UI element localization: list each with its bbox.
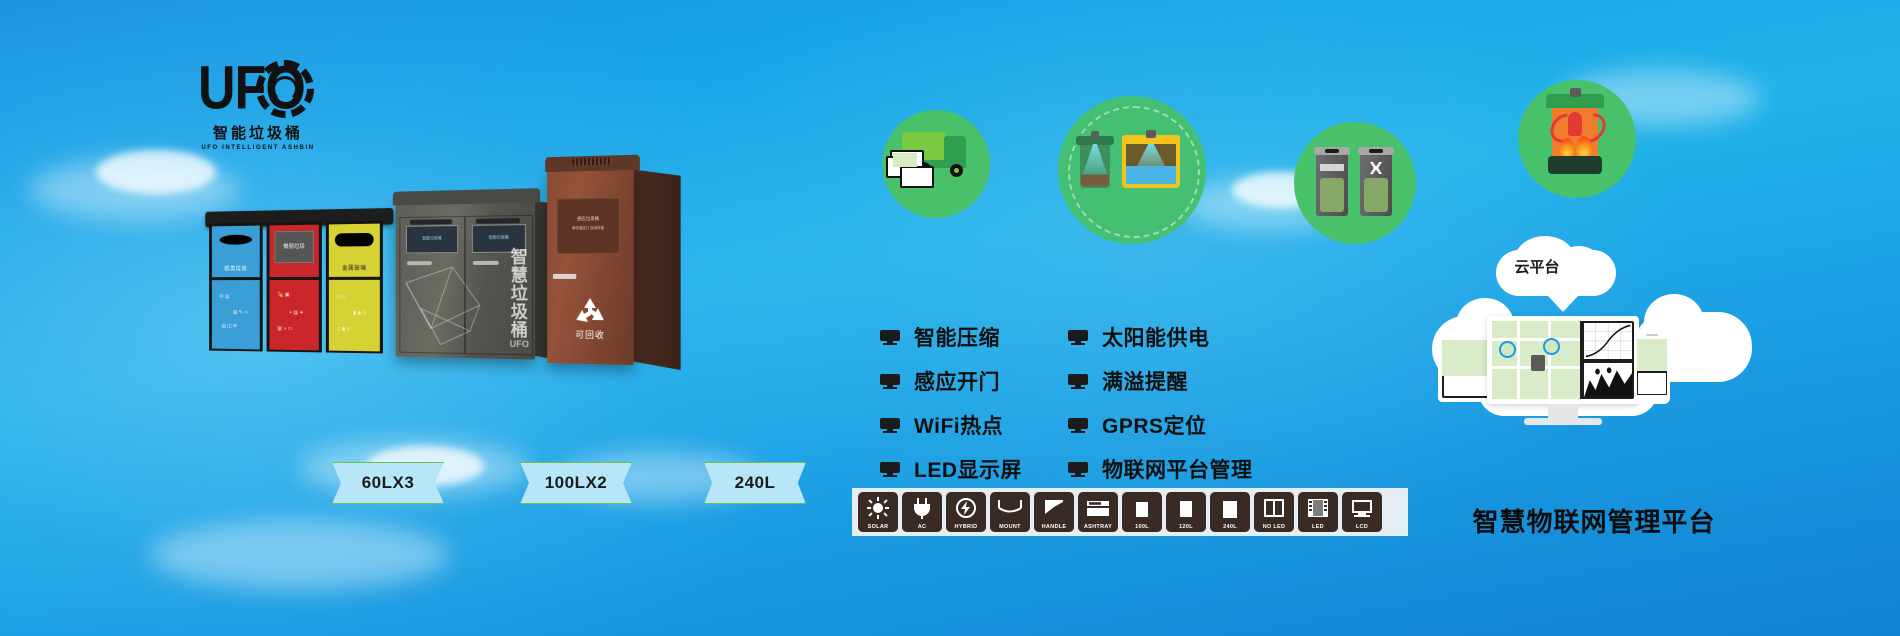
plug-icon (902, 492, 942, 524)
compartment-label: 金属玻璃 (329, 263, 380, 271)
spec-icon-label: 240L (1210, 524, 1250, 532)
monitor-icon (880, 330, 900, 345)
feature-item: 物联网平台管理 (1068, 454, 1253, 484)
bin-240l-icon (1210, 492, 1250, 524)
logo-chinese-name: 智能垃圾桶 (198, 122, 318, 143)
ultrasonic-beam (1083, 144, 1107, 174)
feature-item: LED显示屏 (880, 454, 1022, 484)
monitor-area-chart (1584, 363, 1632, 397)
compartment-top-panel: 纸类垃圾 (212, 226, 260, 278)
phone-screen (1637, 339, 1667, 395)
compartment-screen: 餐厨垃圾 (274, 231, 313, 263)
feature-label: LED显示屏 (914, 454, 1022, 484)
feature-circle-waste-compaction (1294, 122, 1416, 244)
spec-icon-label: LED (1298, 524, 1338, 532)
feature-label: 太阳能供电 (1102, 322, 1210, 352)
map-road (1548, 321, 1551, 399)
waste-bag-compacted (1364, 178, 1388, 212)
feature-item: WiFi热点 (880, 410, 1022, 440)
tablet-map (1442, 340, 1490, 376)
monitor-icon (880, 374, 900, 389)
monitor-icon (1068, 374, 1088, 389)
flame-icon (1560, 138, 1574, 158)
feature-item: 智能压缩 (880, 322, 1022, 352)
spec-icon-label: HANDLE (1034, 524, 1074, 532)
bin-slot (1369, 149, 1383, 153)
spec-icon-ashtray[interactable]: ASHTRAY (1078, 492, 1118, 532)
spec-icon-240l[interactable]: 240L (1210, 492, 1250, 532)
cloud-platform-label: 云平台 (1494, 256, 1580, 277)
spec-icon-hybrid[interactable]: HYBRID (946, 492, 986, 532)
bin-vent (410, 219, 452, 225)
brand-logo: UFO 智能垃圾桶 UFO INTELLIGENT ASHBIN (198, 58, 318, 150)
spec-icon-label: 120L (1166, 524, 1206, 532)
cloud-decor (150, 520, 450, 590)
spec-icon-120l[interactable]: 120L (1166, 492, 1206, 532)
bin-side-face (632, 169, 681, 370)
sensor-node (1146, 130, 1156, 138)
feature-label: WiFi热点 (914, 410, 1003, 440)
device-desktop-monitor (1487, 316, 1639, 404)
tablet-bar-chart (1465, 376, 1488, 396)
bin-compartment-kitchen: 餐厨垃圾 🍖 ▣ ◓ ▥ ✦ ▧ ◑ ▭ (267, 222, 322, 353)
bin-compartment-paper: 纸类垃圾 ✉ ▤ ▨ ✎ ▭ ▤ ◫ ✉ (209, 223, 263, 352)
bin-info-panel: 感应垃圾桶 伸手感应门 自动开盖 (557, 197, 620, 254)
device-tablet (1438, 336, 1494, 402)
bin-recycle-label: 可回收 (547, 327, 634, 341)
compaction-bin-before (1316, 152, 1348, 216)
spec-icon-handle[interactable]: HANDLE (1034, 492, 1074, 532)
feature-item: GPRS定位 (1068, 410, 1253, 440)
monitor-screen (1492, 321, 1634, 399)
waste-slot (219, 235, 252, 245)
capacity-ribbon-240l: 240L (704, 462, 806, 504)
bin-handle-right[interactable] (473, 261, 499, 265)
bin-door-left: 智能垃圾桶 (399, 216, 465, 354)
monitor-icon (880, 418, 900, 433)
cloud-decor (96, 150, 216, 194)
map-road (1517, 321, 1520, 399)
feature-item: 满溢提醒 (1068, 366, 1253, 396)
logo-english-name: UFO INTELLIGENT ASHBIN (198, 145, 318, 151)
compartment-label: 餐厨垃圾 (275, 242, 313, 250)
phone-speaker (1646, 334, 1658, 336)
compactor-plate (1320, 164, 1344, 171)
feature-column-right: 太阳能供电 满溢提醒 GPRS定位 物联网平台管理 (1068, 322, 1253, 484)
compaction-bin-after (1360, 152, 1392, 216)
monitor-map-panel (1492, 321, 1580, 399)
product-three-compartment-bin: 纸类垃圾 ✉ ▤ ▨ ✎ ▭ ▤ ◫ ✉ 餐厨垃圾 🍖 ▣ ◓ ▥ ✦ ▧ ◑ … (209, 220, 385, 353)
bin-vent (476, 218, 520, 224)
compartment-bottom-panel: ✉ ▤ ▨ ✎ ▭ ▤ ◫ ✉ (212, 280, 260, 349)
product-dual-smart-bin: 智能垃圾桶 智能垃圾桶 智慧垃圾桶 UFO (396, 198, 535, 359)
flame-icon (1576, 136, 1592, 158)
feature-label: 感应开门 (914, 366, 1000, 396)
bin-100l-icon (1122, 492, 1162, 524)
display-text: 智能垃圾桶 (409, 235, 455, 241)
map-location-pin (1543, 338, 1560, 355)
truck-wheel (950, 164, 963, 177)
sensor-node (1091, 131, 1099, 138)
bin-card-reader[interactable] (553, 274, 576, 279)
monitor-line-chart (1584, 323, 1632, 359)
spec-icon-label: 100L (1122, 524, 1162, 532)
monitoring-laptop-screen (900, 166, 934, 188)
feature-column-left: 智能压缩 感应开门 WiFi热点 LED显示屏 (880, 322, 1022, 484)
waste-bag (1320, 178, 1344, 212)
feature-label: 物联网平台管理 (1102, 454, 1253, 484)
spec-icon-mount[interactable]: MOUNT (990, 492, 1030, 532)
monitor-icon (880, 462, 900, 477)
spec-icon-label: LCD (1342, 524, 1382, 532)
spec-icon-label: NO LED (1254, 524, 1294, 532)
phone-map (1637, 339, 1667, 371)
capacity-ribbon-60lx3: 60LX3 (332, 462, 444, 504)
feature-item: 感应开门 (880, 366, 1022, 396)
compartment-top-panel: 金属玻璃 (329, 224, 380, 277)
bin-overflowing (1122, 140, 1180, 188)
product-single-recycling-bin: 感应垃圾桶 伸手感应门 自动开盖 可回收 (547, 167, 634, 365)
no-led-icon (1254, 492, 1294, 524)
cloud-platform-caption: 智慧物联网管理平台 (1444, 502, 1744, 539)
feature-circle-fire-alarm-detection (1518, 80, 1636, 198)
waste-fill (1081, 175, 1109, 186)
bin-base-dark (1548, 156, 1602, 174)
arrow-down-head (1548, 296, 1578, 312)
bin-slot (1325, 149, 1339, 153)
spec-icon-lcd[interactable]: LCD (1342, 492, 1382, 532)
waste-slot (335, 233, 374, 247)
tablet-screen (1442, 340, 1490, 398)
spec-icon-led[interactable]: LED (1298, 492, 1338, 532)
logo-ring-icon (256, 60, 314, 118)
phone-chart (1638, 373, 1652, 394)
spec-icon-no-led[interactable]: NO LED (1254, 492, 1294, 532)
feature-label: GPRS定位 (1102, 410, 1207, 440)
compartment-label: 纸类垃圾 (212, 264, 260, 272)
monitoring-map-fill (893, 153, 917, 167)
hybrid-power-icon (946, 492, 986, 524)
compartment-bottom-panel: 🍖 ▣ ◓ ▥ ✦ ▧ ◑ ▭ (269, 280, 318, 350)
display-text: 智能垃圾桶 (475, 234, 523, 241)
feature-label: 智能压缩 (914, 322, 1000, 352)
map-location-pin (1499, 341, 1516, 358)
compress-mark-icon (1370, 162, 1382, 174)
lcd-screen-icon (1342, 492, 1382, 524)
bin-body-text: 智慧垃圾桶 (507, 247, 527, 339)
spec-icon-label: MOUNT (990, 524, 1030, 532)
spec-icon-label: HYBRID (946, 524, 986, 532)
compartment-top-panel: 餐厨垃圾 (269, 225, 318, 277)
logo-mark: UFO (198, 58, 318, 120)
monitor-stand-base (1524, 418, 1602, 425)
led-panel-icon (1298, 492, 1338, 524)
bin-lid (545, 155, 640, 172)
monitor-icon (1068, 462, 1088, 477)
bin-compartment-metal-glass: 金属玻璃 ▯ ◇ ▮ ◈ ▯ ◇ ▮ ▯ (326, 220, 383, 353)
feature-item: 太阳能供电 (1068, 322, 1253, 352)
spec-icon-label: AC (902, 524, 942, 532)
spec-icon-solar[interactable]: SOLAR (858, 492, 898, 532)
monitor-icon (1068, 330, 1088, 345)
phone-bar-chart (1652, 373, 1666, 394)
feature-list: 智能压缩 感应开门 WiFi热点 LED显示屏 太阳能供电 满溢提醒 (880, 322, 1253, 484)
bin-grille (572, 157, 611, 165)
handle-icon (1034, 492, 1074, 524)
spec-icon-label: SOLAR (858, 524, 898, 532)
spec-icon-ac[interactable]: AC (902, 492, 942, 532)
feature-label: 满溢提醒 (1102, 366, 1188, 396)
tablet-chart (1444, 376, 1465, 396)
bin-half-full (1080, 144, 1110, 188)
bin-120l-icon (1166, 492, 1206, 524)
bin-logo-text: UFO (510, 339, 529, 349)
bin-display-left: 智能垃圾桶 (406, 225, 458, 253)
sensor-node (1570, 88, 1581, 97)
panel-title: 感应垃圾桶 (558, 215, 619, 223)
wall-mount-icon (990, 492, 1030, 524)
spec-icon-100l[interactable]: 100L (1122, 492, 1162, 532)
feature-circle-fill-level-sensing (1058, 96, 1206, 244)
banner-stage: UFO 智能垃圾桶 UFO INTELLIGENT ASHBIN 纸类垃圾 ✉ … (0, 0, 1900, 636)
panel-subtitle: 伸手感应门 自动开盖 (558, 225, 619, 233)
spec-icon-strip: SOLAR AC HYBRID (852, 488, 1408, 536)
waste-fill-high (1126, 166, 1176, 184)
recycle-icon (573, 296, 606, 326)
capacity-ribbon-100lx2: 100LX2 (520, 462, 632, 504)
sun-icon (858, 492, 898, 524)
ashtray-icon (1078, 492, 1118, 524)
feature-circle-smart-collection-truck (882, 110, 990, 218)
monitor-icon (1068, 418, 1088, 433)
device-smartphone (1634, 330, 1670, 404)
map-bin-marker (1531, 355, 1545, 371)
compartment-bottom-panel: ▯ ◇ ▮ ◈ ▯ ◇ ▮ ▯ (329, 280, 380, 352)
spec-icon-label: ASHTRAY (1078, 524, 1118, 532)
